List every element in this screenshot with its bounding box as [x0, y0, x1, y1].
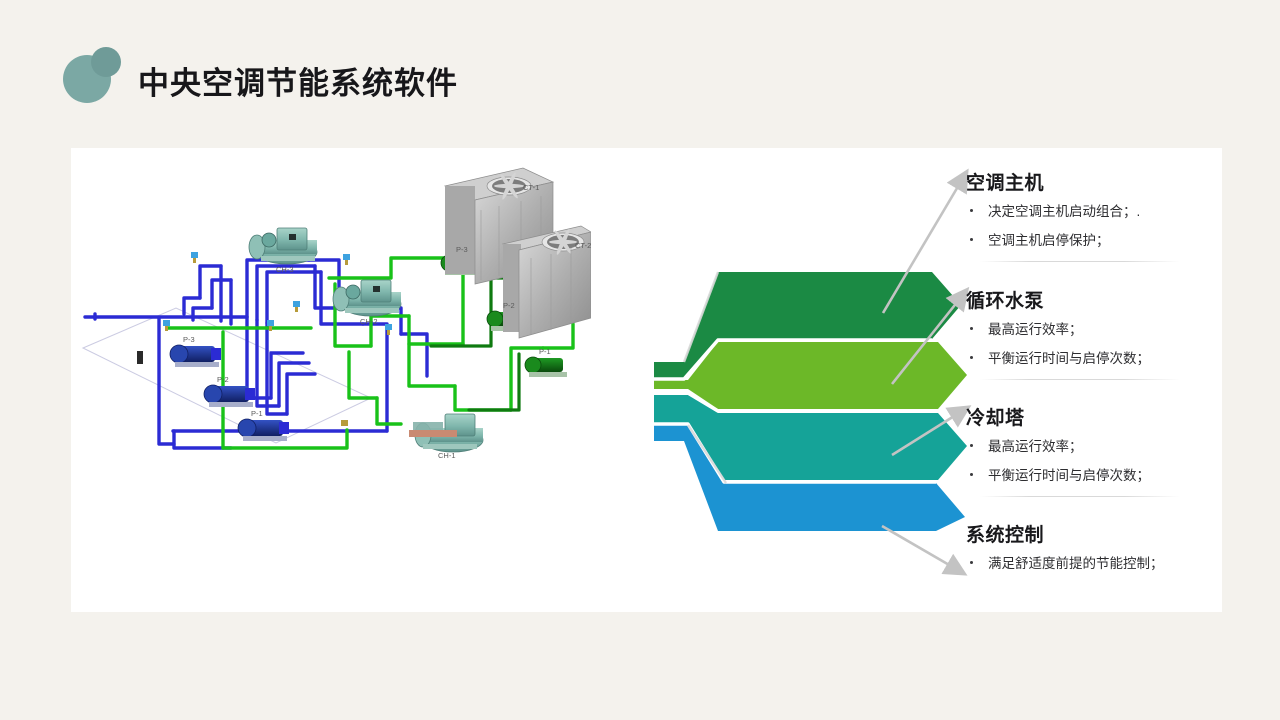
pump-p3-blue [170, 345, 221, 367]
bullet-dot-icon [970, 209, 973, 212]
label-p3-green: P-3 [456, 245, 468, 254]
hvac-schematic-diagram: CH-3 CH-2 CH-1 P-3 P-2 P-1 P-3 P-2 P-1 C… [71, 148, 591, 612]
section-heading: 循环水泵 [966, 286, 1222, 313]
section-bullet-list: 决定空调主机启动组合；. 空调主机启停保护； [966, 197, 1222, 255]
bullet-text: 平衡运行时间与启停次数； [988, 468, 1150, 483]
bullet-dot-icon [970, 473, 973, 476]
chiller-ch3 [249, 228, 317, 264]
list-item: 平衡运行时间与启停次数； [966, 344, 1222, 373]
label-ct1: CT-1 [523, 183, 539, 192]
pump-p1-blue [238, 419, 289, 441]
section-bullet-list: 最高运行效率； 平衡运行时间与启停次数； [966, 315, 1222, 373]
logo-circle-small [91, 47, 121, 77]
section-heading: 空调主机 [966, 168, 1222, 195]
section-divider [980, 496, 1180, 497]
label-p2-green: P-2 [503, 301, 515, 310]
pump-p1-green [525, 357, 567, 377]
pump-p2-blue [204, 385, 255, 407]
bullet-text: 空调主机启停保护； [988, 233, 1110, 248]
bullet-dot-icon [970, 327, 973, 330]
list-item: 满足舒适度前提的节能控制； [966, 549, 1222, 578]
section-divider [980, 261, 1180, 262]
list-item: 最高运行效率； [966, 315, 1222, 344]
bullet-text: 最高运行效率； [988, 439, 1083, 454]
feature-sections: 空调主机 决定空调主机启动组合；. 空调主机启停保护； 循环水泵 最高运行效率；… [966, 158, 1222, 608]
feature-section-cooling-tower: 冷却塔 最高运行效率； 平衡运行时间与启停次数； [966, 403, 1222, 497]
feature-section-chiller: 空调主机 决定空调主机启动组合；. 空调主机启停保护； [966, 168, 1222, 262]
label-ch3: CH-3 [276, 265, 294, 274]
bullet-text: 满足舒适度前提的节能控制； [988, 556, 1164, 571]
feature-section-system-control: 系统控制 满足舒适度前提的节能控制； [966, 520, 1222, 578]
section-divider [980, 379, 1180, 380]
section-bullet-list: 满足舒适度前提的节能控制； [966, 549, 1222, 578]
chiller-ch2 [333, 280, 401, 316]
label-p2-blue: P-2 [217, 375, 229, 384]
section-heading: 冷却塔 [966, 403, 1222, 430]
section-heading: 系统控制 [966, 520, 1222, 547]
bullet-dot-icon [970, 356, 973, 359]
label-p1-blue: P-1 [251, 409, 263, 418]
label-ch2: CH-2 [360, 317, 378, 326]
flow-ribbons [566, 243, 986, 543]
slide-header: 中央空调节能系统软件 [0, 0, 1280, 140]
list-item: 空调主机启停保护； [966, 226, 1222, 255]
page-title: 中央空调节能系统软件 [138, 58, 458, 103]
bullet-dot-icon [970, 238, 973, 241]
bullet-dot-icon [970, 444, 973, 447]
bullet-dot-icon [970, 561, 973, 564]
logo-icon [63, 47, 125, 103]
label-ch1: CH-1 [438, 451, 456, 460]
chiller-ch1 [409, 414, 483, 452]
label-p3-blue: P-3 [183, 335, 195, 344]
bullet-text: 平衡运行时间与启停次数； [988, 351, 1150, 366]
list-item: 平衡运行时间与启停次数； [966, 461, 1222, 490]
section-bullet-list: 最高运行效率； 平衡运行时间与启停次数； [966, 432, 1222, 490]
list-item: 最高运行效率； [966, 432, 1222, 461]
bullet-text: 决定空调主机启动组合；. [988, 204, 1140, 219]
bullet-text: 最高运行效率； [988, 322, 1083, 337]
content-panel: CH-3 CH-2 CH-1 P-3 P-2 P-1 P-3 P-2 P-1 C… [71, 148, 1222, 612]
list-item: 决定空调主机启动组合；. [966, 197, 1222, 226]
label-p1-green: P-1 [539, 347, 551, 356]
feature-section-pump: 循环水泵 最高运行效率； 平衡运行时间与启停次数； [966, 286, 1222, 380]
